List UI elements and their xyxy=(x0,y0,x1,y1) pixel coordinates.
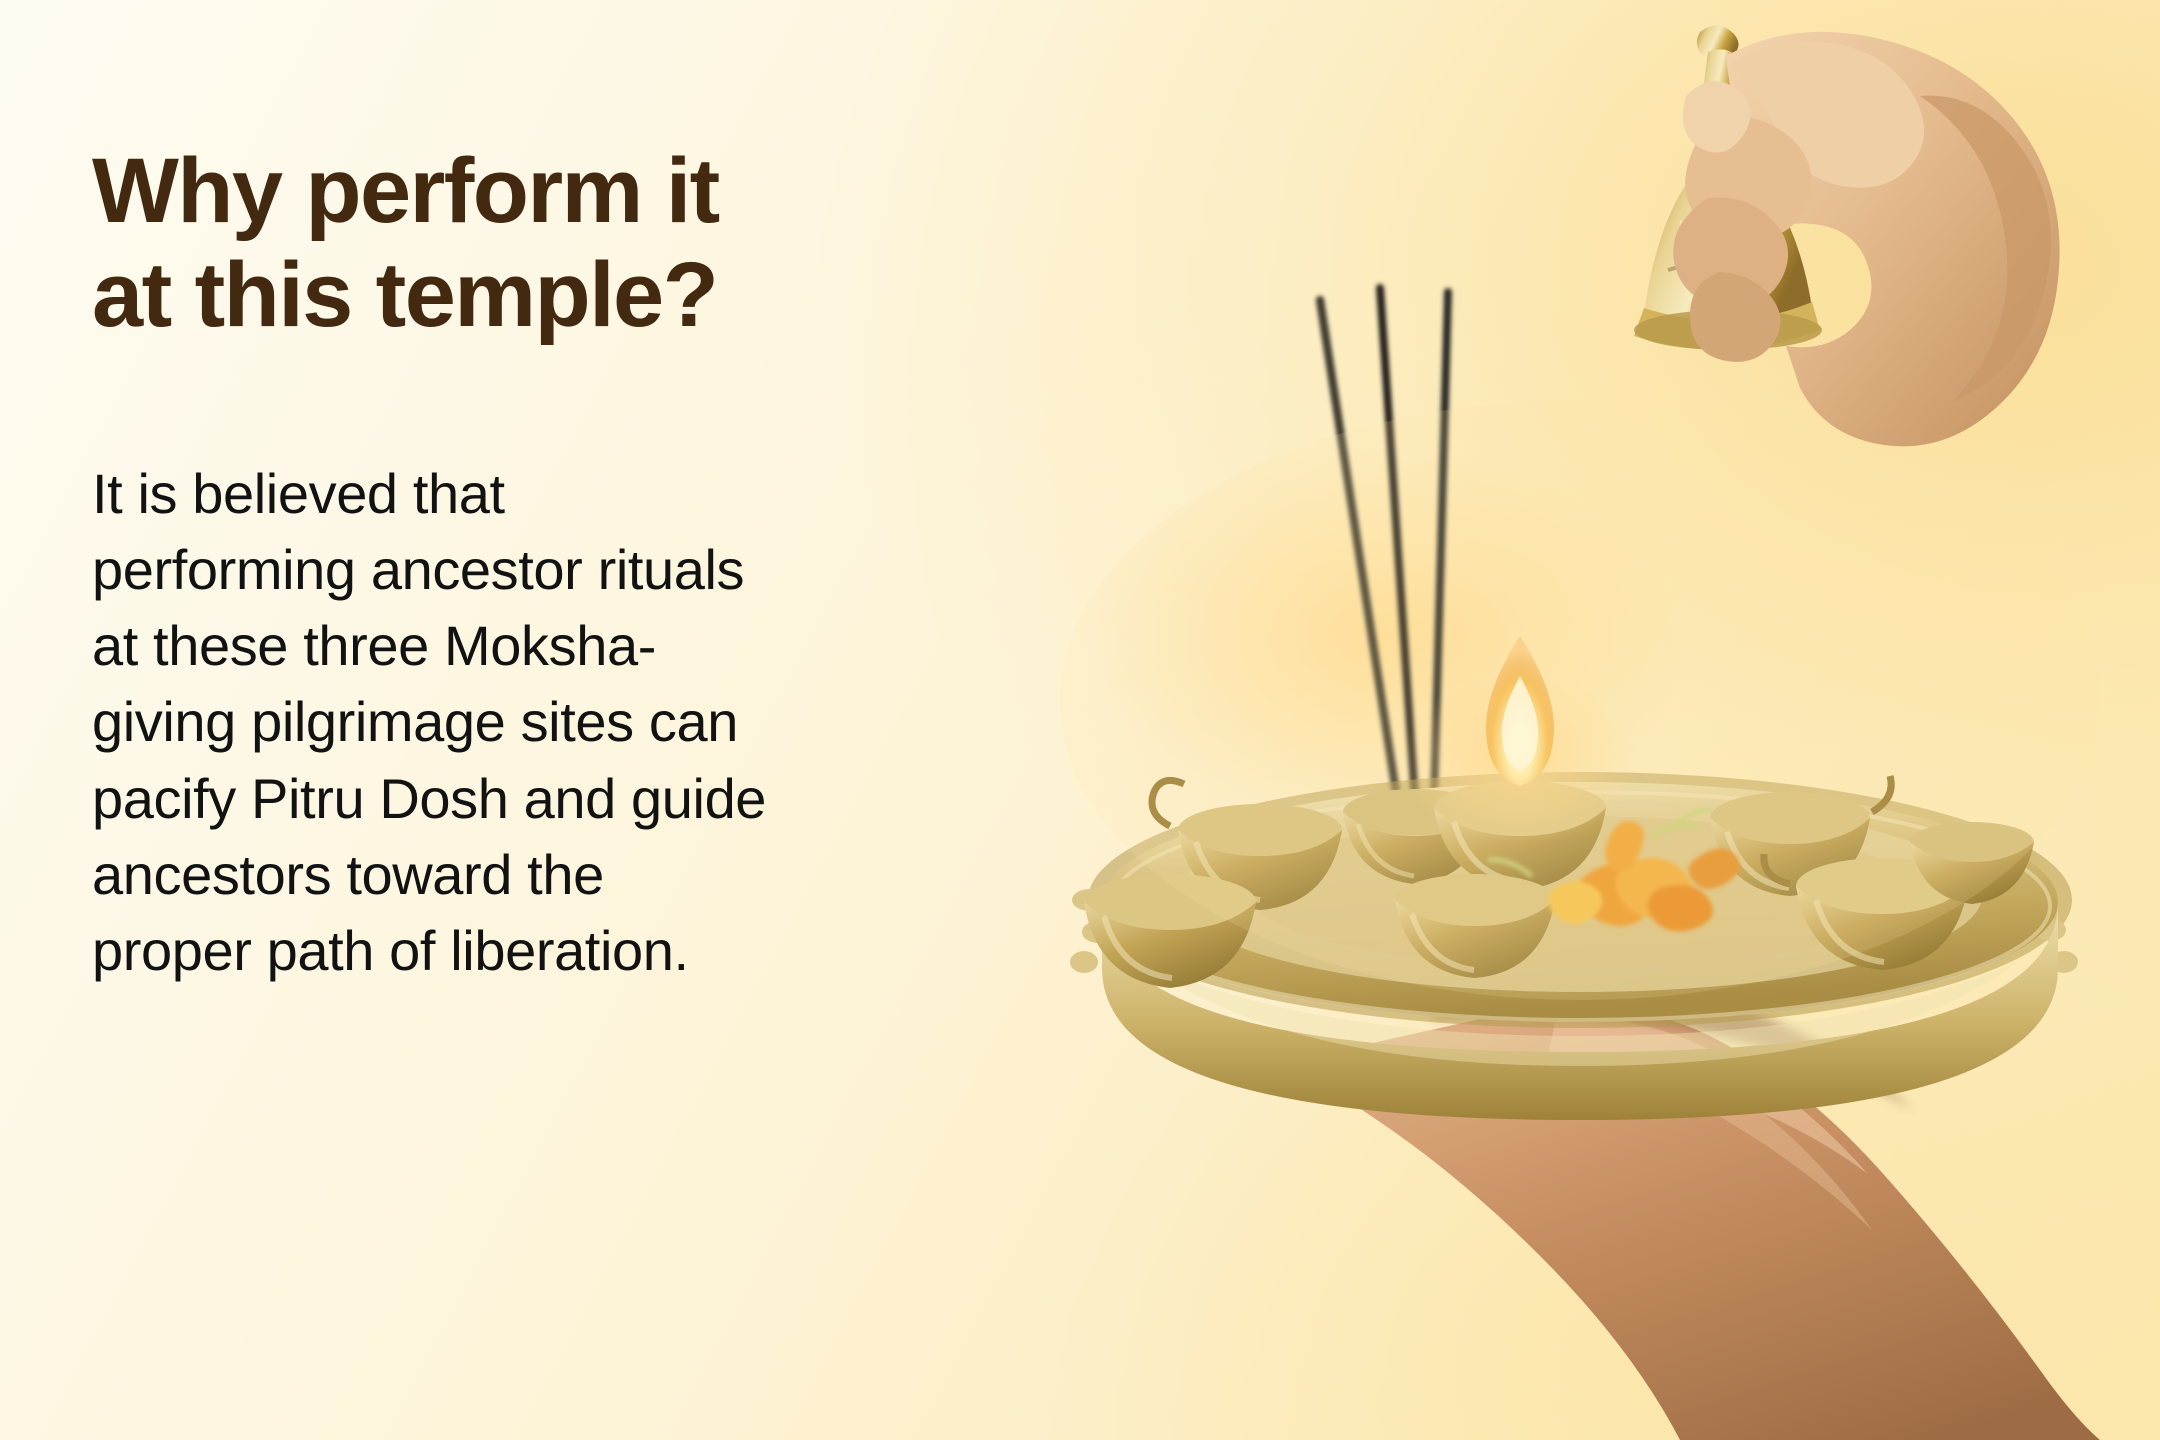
hand-holding-bell-group xyxy=(1634,25,2060,446)
slide-canvas: Why perform it at this temple? It is bel… xyxy=(0,0,2160,1440)
puja-illustration xyxy=(1020,0,2160,1440)
body-paragraph: It is believed that performing ancestor … xyxy=(92,456,1102,989)
ambient-wash xyxy=(1060,400,2100,1000)
text-column: Why perform it at this temple? It is bel… xyxy=(92,140,1102,989)
page-title: Why perform it at this temple? xyxy=(92,140,1102,348)
hand-holding-bell xyxy=(1673,32,2059,446)
puja-ritual-photo xyxy=(1020,0,2160,1440)
